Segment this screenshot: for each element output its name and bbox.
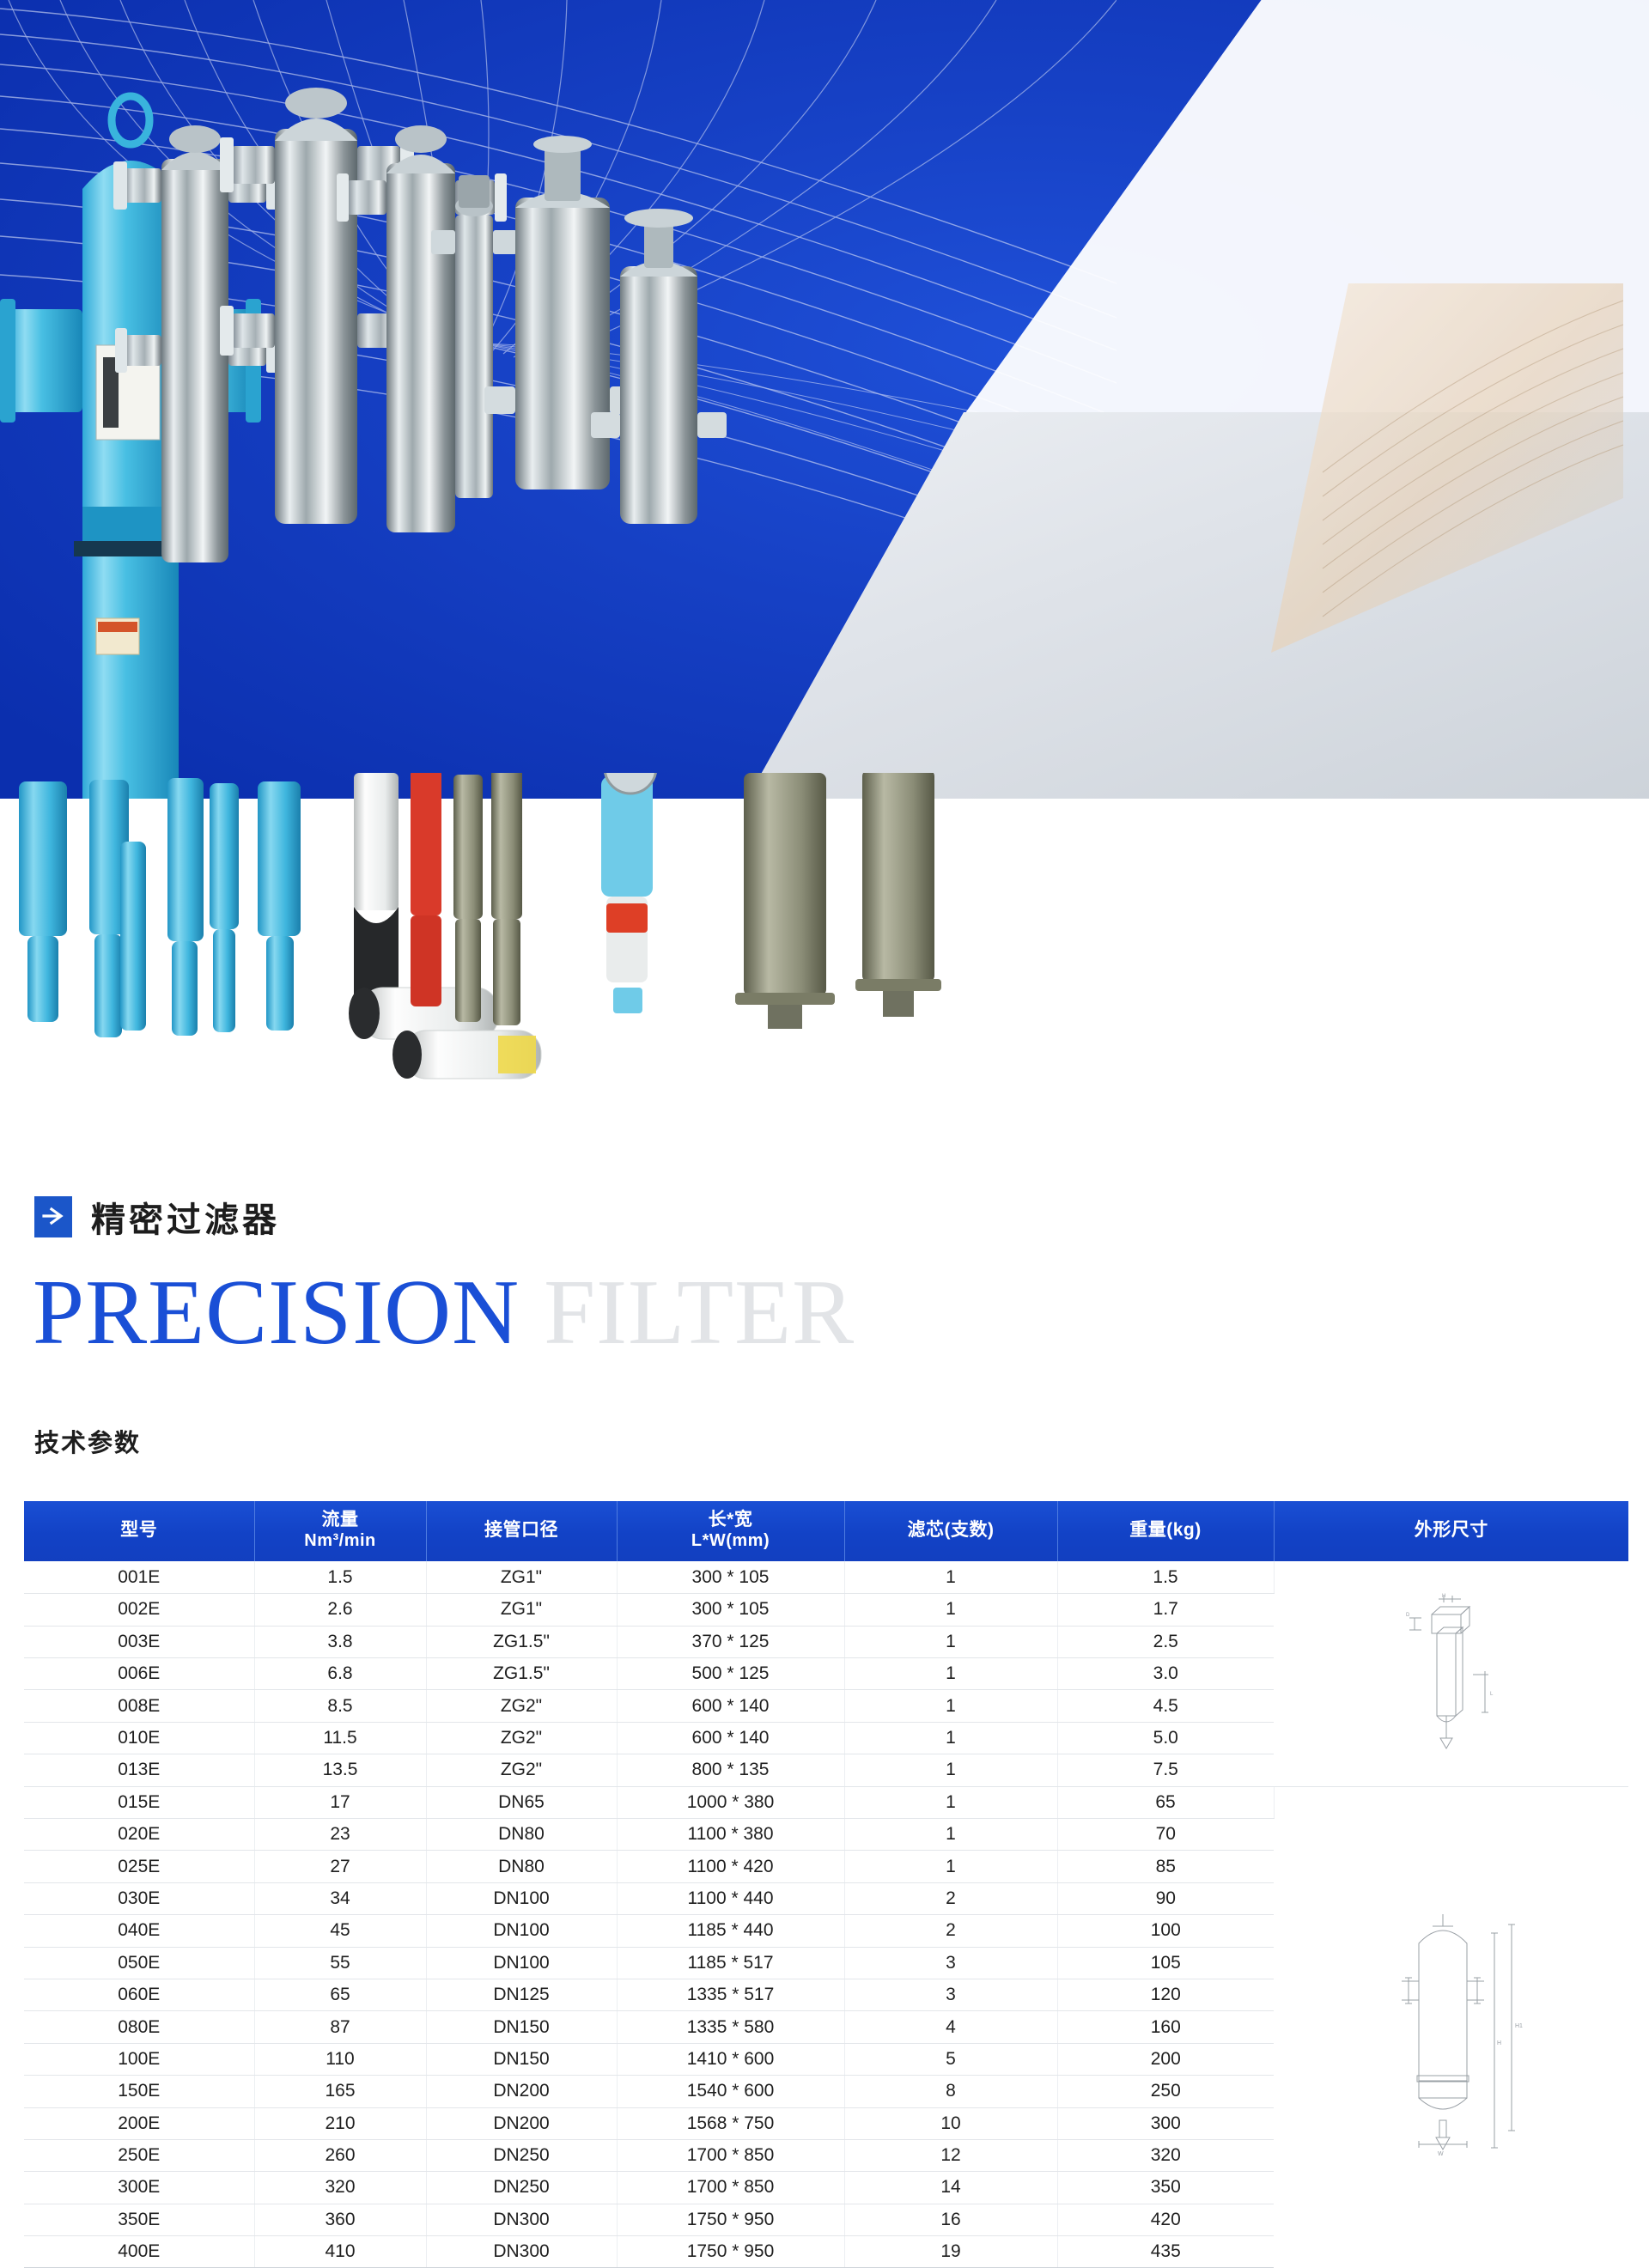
elements-cell: 10 [844,2107,1057,2139]
elements-cell: 14 [844,2172,1057,2204]
flow-cell: 87 [254,2011,426,2043]
weight-cell: 65 [1057,1786,1274,1818]
dimensions-cell: 370 * 125 [617,1626,844,1657]
dimensions-cell: 300 * 105 [617,1594,844,1626]
port-size-cell: DN150 [426,2011,617,2043]
section-title-cn: 精密过滤器 [91,1192,280,1242]
port-size-cell: DN250 [426,2172,617,2204]
model-cell: 300E [24,2172,254,2204]
model-cell: 030E [24,1882,254,1914]
large-filter-outline-drawing: H H1 W [1366,1899,1537,2156]
elements-cell: 1 [844,1818,1057,1850]
tech-params-label: 技术参数 [34,1423,141,1459]
page-title: PRECISION FILTER [33,1262,855,1365]
svg-text:L: L [1490,1692,1494,1697]
port-size-cell: DN80 [426,1818,617,1850]
hero-banner [0,0,1649,1142]
port-size-cell: ZG2" [426,1690,617,1722]
flow-cell: 320 [254,2172,426,2204]
elements-cell: 3 [844,1979,1057,2010]
port-size-cell: DN65 [426,1786,617,1818]
small-filter-outline-drawing: H L D [1387,1592,1516,1755]
elements-cell: 1 [844,1754,1057,1786]
weight-cell: 105 [1057,1947,1274,1979]
dimensions-cell: 1700 * 850 [617,2139,844,2171]
weight-cell: 160 [1057,2011,1274,2043]
table-row: 001E1.5ZG1"300 * 10511.5 H L D [24,1561,1628,1593]
model-cell: 003E [24,1626,254,1657]
elements-cell: 12 [844,2139,1057,2171]
port-size-cell: DN150 [426,2043,617,2075]
dimensions-cell: 1335 * 517 [617,1979,844,2010]
col-header-elements: 滤芯(支数) [844,1501,1057,1561]
elements-cell: 2 [844,1915,1057,1947]
weight-cell: 420 [1057,2204,1274,2235]
elements-cell: 1 [844,1658,1057,1690]
port-size-cell: DN300 [426,2204,617,2235]
filter-fiber-photo [1220,283,1623,653]
elements-cell: 4 [844,2011,1057,2043]
dimensions-cell: 600 * 140 [617,1722,844,1754]
flow-cell: 11.5 [254,1722,426,1754]
elements-cell: 1 [844,1690,1057,1722]
weight-cell: 250 [1057,2076,1274,2107]
port-size-cell: ZG2" [426,1722,617,1754]
flow-cell: 17 [254,1786,426,1818]
table-header-row: 型号 流量 Nm³/min 接管口径 长*宽 L*W(mm) 滤芯(支数) 重量 [24,1501,1628,1561]
weight-cell: 435 [1057,2236,1274,2268]
port-size-cell: ZG1.5" [426,1658,617,1690]
spec-table-body: 001E1.5ZG1"300 * 10511.5 H L D 002E2.6ZG… [24,1561,1628,2268]
model-cell: 006E [24,1658,254,1690]
large-filter-outline-drawing-cell: H H1 W [1274,1786,1628,2268]
col-header-outline-drawing: 外形尺寸 [1274,1501,1628,1561]
dimensions-cell: 1750 * 950 [617,2236,844,2268]
weight-cell: 85 [1057,1851,1274,1882]
elements-cell: 2 [844,1882,1057,1914]
dimensions-cell: 1100 * 380 [617,1818,844,1850]
weight-cell: 70 [1057,1818,1274,1850]
col-header-dimensions: 长*宽 L*W(mm) [617,1501,844,1561]
port-size-cell: DN80 [426,1851,617,1882]
flow-cell: 165 [254,2076,426,2107]
weight-cell: 1.7 [1057,1594,1274,1626]
flow-cell: 65 [254,1979,426,2010]
weight-cell: 3.0 [1057,1658,1274,1690]
small-filter-outline-drawing: H L D [1275,1592,1629,1755]
model-cell: 200E [24,2107,254,2139]
elements-cell: 1 [844,1851,1057,1882]
col-header-model: 型号 [24,1501,254,1561]
port-size-cell: ZG2" [426,1754,617,1786]
dimensions-cell: 1568 * 750 [617,2107,844,2139]
flow-cell: 260 [254,2139,426,2171]
model-cell: 060E [24,1979,254,2010]
dimensions-cell: 800 * 135 [617,1754,844,1786]
port-size-cell: DN100 [426,1947,617,1979]
product-photo-group [0,26,1074,799]
dimensions-cell: 1335 * 580 [617,2011,844,2043]
weight-cell: 4.5 [1057,1690,1274,1722]
dimensions-cell: 1185 * 440 [617,1915,844,1947]
model-cell: 050E [24,1947,254,1979]
port-size-cell: DN200 [426,2107,617,2139]
flow-cell: 2.6 [254,1594,426,1626]
svg-text:W: W [1438,2151,1444,2156]
flow-cell: 3.8 [254,1626,426,1657]
flow-cell: 360 [254,2204,426,2235]
weight-cell: 300 [1057,2107,1274,2139]
model-cell: 015E [24,1786,254,1818]
weight-cell: 2.5 [1057,1626,1274,1657]
spec-table: 型号 流量 Nm³/min 接管口径 长*宽 L*W(mm) 滤芯(支数) 重量 [24,1501,1628,2268]
elements-cell: 8 [844,2076,1057,2107]
flow-cell: 23 [254,1818,426,1850]
weight-cell: 5.0 [1057,1722,1274,1754]
port-size-cell: DN250 [426,2139,617,2171]
port-size-cell: DN100 [426,1915,617,1947]
weight-cell: 90 [1057,1882,1274,1914]
flow-cell: 45 [254,1915,426,1947]
flow-cell: 110 [254,2043,426,2075]
weight-cell: 350 [1057,2172,1274,2204]
dimensions-cell: 1540 * 600 [617,2076,844,2107]
elements-cell: 1 [844,1786,1057,1818]
table-row: 015E17DN651000 * 380165 H H1 W [24,1786,1628,1818]
dimensions-cell: 1750 * 950 [617,2204,844,2235]
flow-cell: 27 [254,1851,426,1882]
flow-cell: 1.5 [254,1561,426,1593]
svg-text:D: D [1406,1613,1410,1618]
dimensions-cell: 1100 * 440 [617,1882,844,1914]
elements-cell: 1 [844,1626,1057,1657]
dimensions-cell: 1100 * 420 [617,1851,844,1882]
port-size-cell: ZG1" [426,1594,617,1626]
weight-cell: 1.5 [1057,1561,1274,1593]
model-cell: 013E [24,1754,254,1786]
col-header-weight: 重量(kg) [1057,1501,1274,1561]
flow-cell: 34 [254,1882,426,1914]
dimensions-cell: 1185 * 517 [617,1947,844,1979]
dimensions-cell: 1410 * 600 [617,2043,844,2075]
dimensions-cell: 1700 * 850 [617,2172,844,2204]
flow-cell: 210 [254,2107,426,2139]
model-cell: 010E [24,1722,254,1754]
spec-table-wrapper: 型号 流量 Nm³/min 接管口径 长*宽 L*W(mm) 滤芯(支数) 重量 [24,1501,1628,2268]
port-size-cell: ZG1" [426,1561,617,1593]
dimensions-cell: 500 * 125 [617,1658,844,1690]
model-cell: 250E [24,2139,254,2171]
model-cell: 040E [24,1915,254,1947]
model-cell: 350E [24,2204,254,2235]
page-title-secondary: FILTER [544,1262,855,1364]
port-size-cell: DN300 [426,2236,617,2268]
svg-text:H: H [1442,1594,1445,1599]
model-cell: 100E [24,2043,254,2075]
weight-cell: 120 [1057,1979,1274,2010]
model-cell: 020E [24,1818,254,1850]
section-heading: 精密过滤器 [34,1192,280,1242]
model-cell: 001E [24,1561,254,1593]
product-photo-row-bottom [0,773,1117,1116]
large-filter-outline-drawing: H H1 W [1275,1899,1629,2156]
port-size-cell: DN125 [426,1979,617,2010]
weight-cell: 100 [1057,1915,1274,1947]
model-cell: 080E [24,2011,254,2043]
col-header-port-size: 接管口径 [426,1501,617,1561]
svg-text:H1: H1 [1515,2023,1523,2029]
model-cell: 025E [24,1851,254,1882]
arrow-right-icon [34,1196,72,1237]
flow-cell: 410 [254,2236,426,2268]
flow-cell: 13.5 [254,1754,426,1786]
port-size-cell: ZG1.5" [426,1626,617,1657]
weight-cell: 200 [1057,2043,1274,2075]
flow-cell: 8.5 [254,1690,426,1722]
dimensions-cell: 1000 * 380 [617,1786,844,1818]
small-filter-outline-drawing-cell: H L D [1274,1561,1628,1786]
svg-text:H: H [1497,2040,1501,2046]
flow-cell: 6.8 [254,1658,426,1690]
elements-cell: 5 [844,2043,1057,2075]
model-cell: 008E [24,1690,254,1722]
elements-cell: 1 [844,1722,1057,1754]
flow-cell: 55 [254,1947,426,1979]
elements-cell: 1 [844,1561,1057,1593]
spec-table-head: 型号 流量 Nm³/min 接管口径 长*宽 L*W(mm) 滤芯(支数) 重量 [24,1501,1628,1561]
port-size-cell: DN200 [426,2076,617,2107]
dimensions-cell: 600 * 140 [617,1690,844,1722]
model-cell: 150E [24,2076,254,2107]
port-size-cell: DN100 [426,1882,617,1914]
elements-cell: 16 [844,2204,1057,2235]
dimensions-cell: 300 * 105 [617,1561,844,1593]
elements-cell: 1 [844,1594,1057,1626]
weight-cell: 7.5 [1057,1754,1274,1786]
elements-cell: 19 [844,2236,1057,2268]
page-title-primary: PRECISION [33,1262,520,1364]
weight-cell: 320 [1057,2139,1274,2171]
model-cell: 002E [24,1594,254,1626]
model-cell: 400E [24,2236,254,2268]
col-header-flow: 流量 Nm³/min [254,1501,426,1561]
elements-cell: 3 [844,1947,1057,1979]
